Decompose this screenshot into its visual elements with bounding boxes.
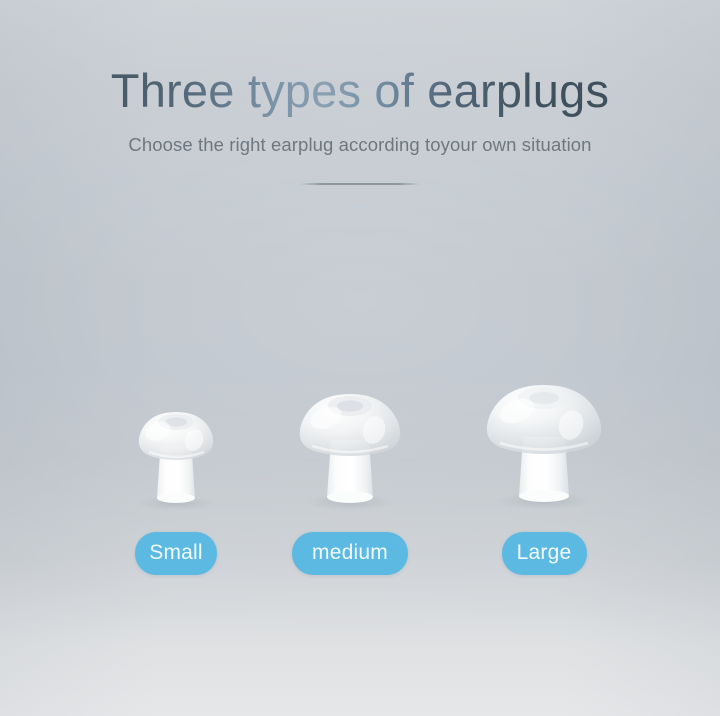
header: Three types of earplugs Choose the right… bbox=[0, 0, 720, 185]
product-item-small[interactable]: Small bbox=[76, 340, 276, 592]
badge-large[interactable]: Large bbox=[502, 532, 587, 575]
badge-row-medium: medium bbox=[250, 532, 450, 592]
product-item-large[interactable]: Large bbox=[444, 340, 644, 592]
product-item-medium[interactable]: medium bbox=[250, 340, 450, 592]
badge-small[interactable]: Small bbox=[135, 532, 217, 575]
header-divider bbox=[300, 183, 420, 185]
product-list: Small bbox=[0, 340, 720, 620]
earplug-icon bbox=[116, 360, 236, 520]
earplug-icon bbox=[280, 350, 420, 520]
badge-medium[interactable]: medium bbox=[292, 532, 408, 575]
earplug-icon bbox=[469, 345, 619, 520]
product-image-small bbox=[76, 340, 276, 520]
page-subtitle: Choose the right earplug according toyou… bbox=[0, 133, 720, 157]
product-image-medium bbox=[250, 340, 450, 520]
badge-row-large: Large bbox=[444, 532, 644, 592]
badge-row-small: Small bbox=[76, 532, 276, 592]
product-image-large bbox=[444, 340, 644, 520]
page-title: Three types of earplugs bbox=[0, 62, 720, 120]
